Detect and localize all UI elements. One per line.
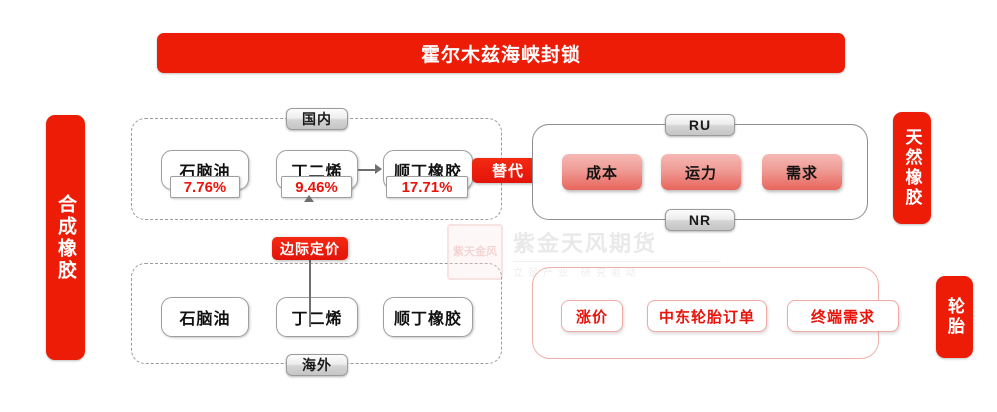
side-label-synthetic-rubber-text: 合成橡胶 bbox=[52, 194, 79, 282]
region-tag-ru: RU bbox=[665, 114, 735, 136]
tire-factor-end-demand[interactable]: 终端需求 bbox=[787, 300, 899, 332]
region-tag-ru-label: RU bbox=[689, 117, 711, 133]
region-tag-nr-label: NR bbox=[689, 212, 711, 228]
node-overseas-br-rubber[interactable]: 顺丁橡胶 bbox=[383, 297, 473, 337]
badge-marginal-pricing: 边际定价 bbox=[272, 237, 348, 260]
pct-domestic-butadiene-value: 9.46% bbox=[295, 179, 338, 196]
region-tag-overseas-label: 海外 bbox=[302, 355, 332, 375]
region-tag-domestic-label: 国内 bbox=[302, 109, 332, 129]
badge-marginal-pricing-label: 边际定价 bbox=[280, 239, 340, 259]
region-tag-domestic: 国内 bbox=[286, 108, 348, 130]
nr-factor-shipping[interactable]: 运力 bbox=[661, 154, 741, 190]
connector-marginal-pricing-shaft bbox=[309, 259, 311, 327]
side-label-natural-rubber: 天然橡胶 bbox=[893, 112, 931, 224]
pct-domestic-br-rubber: 17.71% bbox=[386, 176, 468, 198]
nr-factor-demand[interactable]: 需求 bbox=[762, 154, 842, 190]
side-label-natural-rubber-text: 天然橡胶 bbox=[900, 128, 925, 208]
title-text: 霍尔木兹海峡封锁 bbox=[421, 40, 581, 67]
tire-factor-price-increase[interactable]: 涨价 bbox=[561, 300, 623, 332]
nr-factor-cost[interactable]: 成本 bbox=[562, 154, 642, 190]
tire-factor-end-demand-label: 终端需求 bbox=[811, 306, 875, 327]
node-overseas-butadiene-label: 丁二烯 bbox=[291, 305, 342, 329]
tire-factor-middle-east-orders[interactable]: 中东轮胎订单 bbox=[647, 300, 767, 332]
diagram-canvas: 霍尔木兹海峡封锁 合成橡胶 天然橡胶 轮胎 国内 石脑油 丁二烯 顺丁橡胶 7.… bbox=[0, 0, 997, 412]
tire-factor-middle-east-orders-label: 中东轮胎订单 bbox=[659, 306, 755, 327]
connector-marginal-pricing-head-icon bbox=[304, 195, 314, 202]
tire-factor-price-increase-label: 涨价 bbox=[576, 306, 608, 327]
region-tag-nr: NR bbox=[665, 209, 735, 231]
node-overseas-br-rubber-label: 顺丁橡胶 bbox=[394, 305, 462, 329]
nr-factor-shipping-label: 运力 bbox=[685, 162, 717, 183]
node-overseas-naphtha-label: 石脑油 bbox=[179, 305, 230, 329]
side-label-tire: 轮胎 bbox=[936, 276, 973, 358]
pct-domestic-butadiene: 9.46% bbox=[281, 176, 352, 198]
nr-factor-demand-label: 需求 bbox=[786, 162, 818, 183]
pct-domestic-br-rubber-value: 17.71% bbox=[402, 179, 453, 196]
pct-domestic-naphtha: 7.76% bbox=[170, 176, 240, 198]
region-tag-overseas: 海外 bbox=[286, 354, 348, 376]
node-overseas-naphtha[interactable]: 石脑油 bbox=[161, 297, 249, 337]
pct-domestic-naphtha-value: 7.76% bbox=[184, 179, 227, 196]
arrow-butadiene-to-br-head-icon bbox=[375, 164, 382, 174]
node-overseas-butadiene[interactable]: 丁二烯 bbox=[276, 297, 358, 337]
watermark-divider bbox=[513, 261, 721, 262]
side-label-synthetic-rubber: 合成橡胶 bbox=[46, 115, 85, 360]
nr-factor-cost-label: 成本 bbox=[586, 162, 618, 183]
title-banner: 霍尔木兹海峡封锁 bbox=[157, 33, 845, 73]
badge-substitution-label: 替代 bbox=[492, 160, 524, 181]
side-label-tire-text: 轮胎 bbox=[942, 297, 967, 337]
watermark-seal-text: 紫天金风 bbox=[453, 247, 497, 258]
